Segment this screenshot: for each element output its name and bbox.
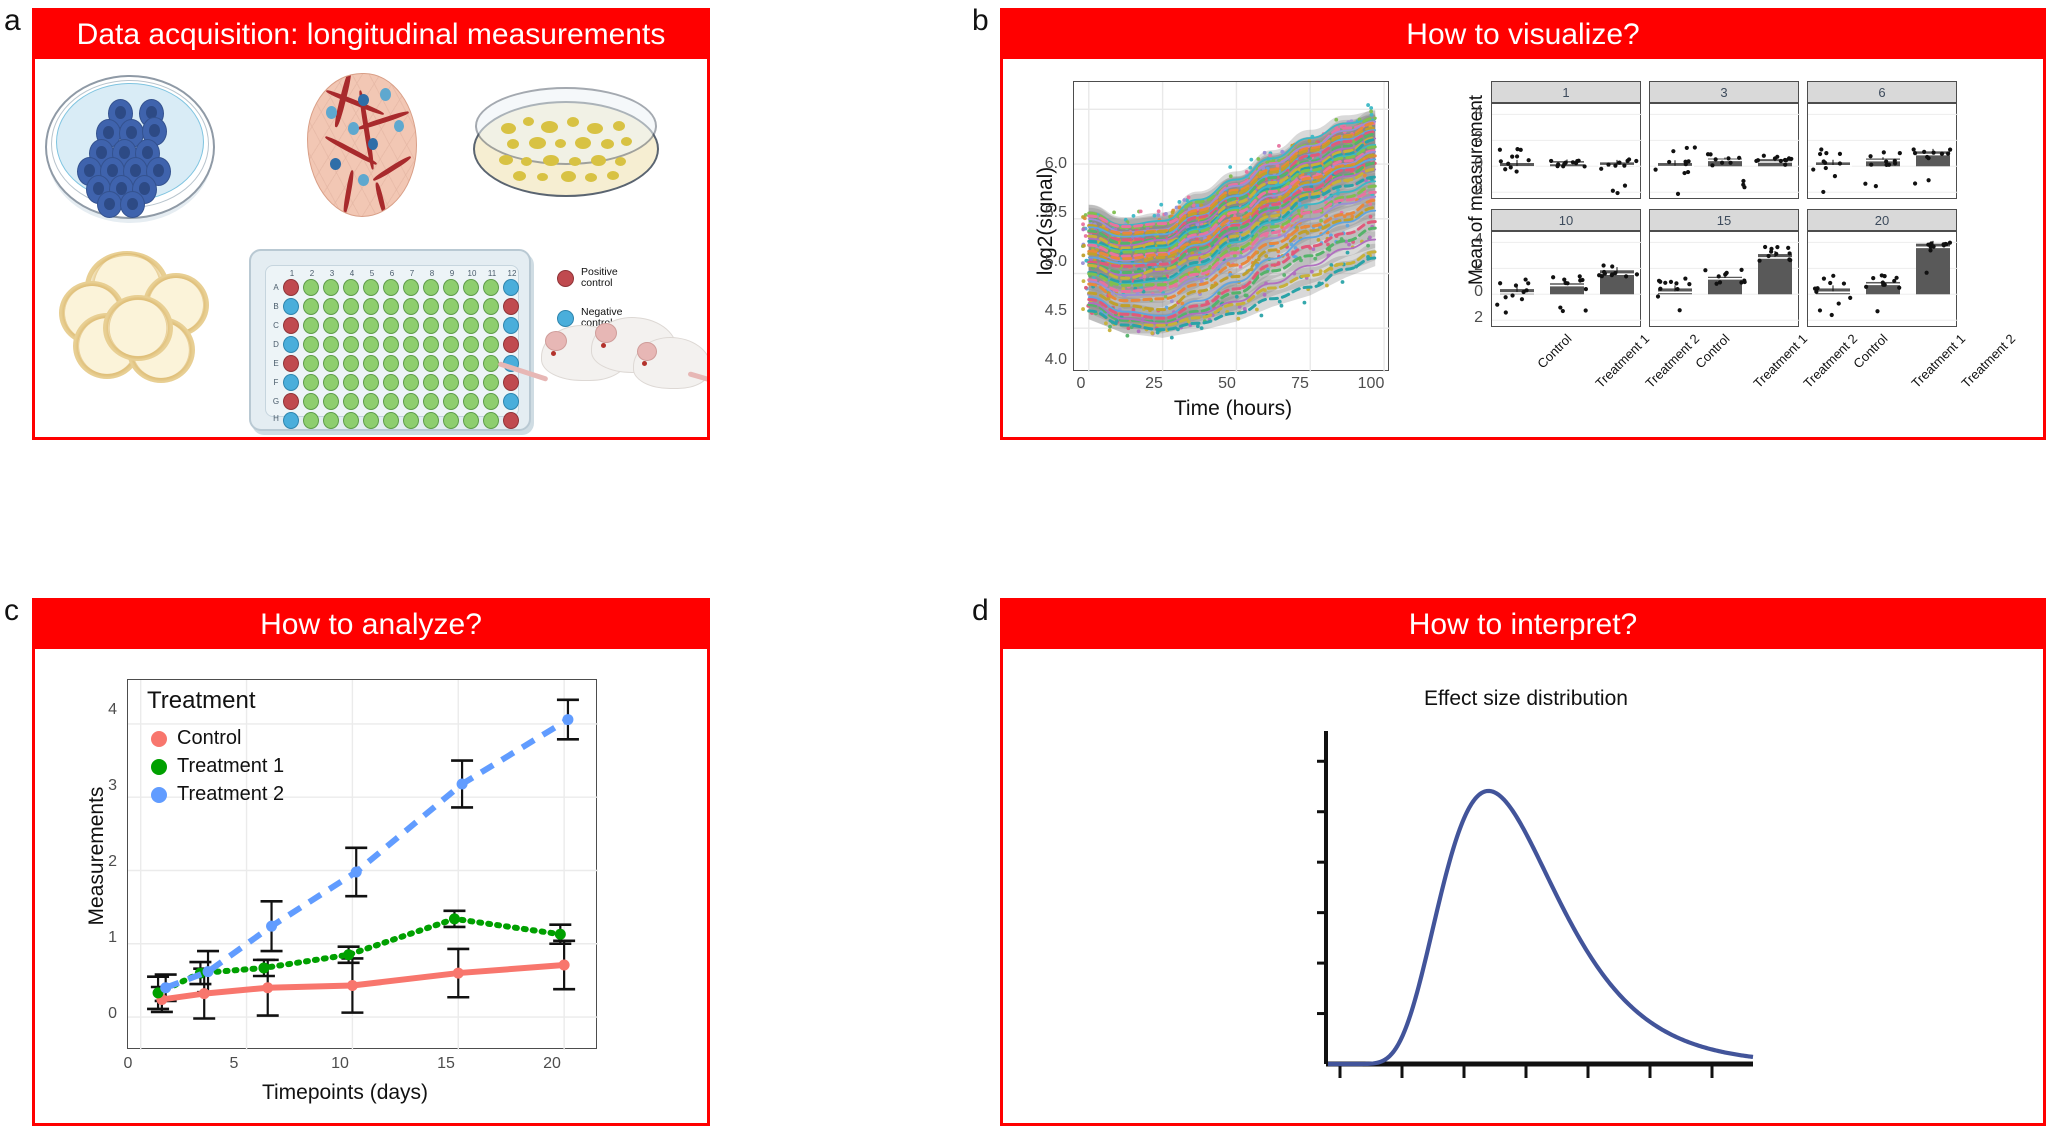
well-H5[interactable] — [363, 412, 379, 429]
spaghetti-xtick: 0 — [1063, 375, 1099, 393]
well-G12[interactable] — [503, 393, 519, 410]
well-C6[interactable] — [383, 317, 399, 334]
panel-d-title: How to interpret? — [1409, 608, 1637, 642]
facet-strip-10: 10 — [1491, 209, 1641, 231]
plate-col-label: 3 — [325, 269, 339, 278]
panel-c-body: Measurements Timepoints (days) 4 3 2 1 0… — [35, 649, 707, 1123]
plate-col-label: 4 — [345, 269, 359, 278]
well-D11[interactable] — [483, 336, 499, 353]
well-A8[interactable] — [423, 279, 439, 296]
panel-b-title: How to visualize? — [1406, 18, 1639, 52]
well-A9[interactable] — [443, 279, 459, 296]
well-G1[interactable] — [283, 393, 299, 410]
well-D1[interactable] — [283, 336, 299, 353]
well-D7[interactable] — [403, 336, 419, 353]
plate-col-label: 11 — [485, 269, 499, 278]
well-A10[interactable] — [463, 279, 479, 296]
well-F5[interactable] — [363, 374, 379, 391]
facet-ytick: 2 — [1457, 309, 1483, 327]
facet-panel-10 — [1491, 231, 1641, 327]
well-G3[interactable] — [323, 393, 339, 410]
linechart-ytick: 0 — [87, 1005, 117, 1023]
well-D3[interactable] — [323, 336, 339, 353]
plate-row-label: H — [271, 414, 281, 423]
well-H4[interactable] — [343, 412, 359, 429]
well-G10[interactable] — [463, 393, 479, 410]
well-C2[interactable] — [303, 317, 319, 334]
plate-col-label: 6 — [385, 269, 399, 278]
facet-ytick: 2 — [1457, 129, 1483, 147]
well-D10[interactable] — [463, 336, 479, 353]
spaghetti-xtick: 50 — [1209, 375, 1245, 393]
legend-item-control[interactable]: Control — [151, 727, 241, 750]
well-A5[interactable] — [363, 279, 379, 296]
panel-letter-c: c — [4, 596, 19, 626]
well-D9[interactable] — [443, 336, 459, 353]
well-E6[interactable] — [383, 355, 399, 372]
well-A12[interactable] — [503, 279, 519, 296]
facet-panel-3 — [1649, 103, 1799, 199]
panel-d: How to interpret? Effect size distributi… — [1000, 598, 2046, 1126]
spaghetti-x-axis-title: Time (hours) — [1103, 397, 1363, 421]
panel-a-body: 1 2 3 4 5 6 7 8 9 10 11 12 A B C D E F G — [35, 59, 707, 437]
linechart-xtick: 0 — [113, 1055, 143, 1073]
legend-key-control — [151, 731, 167, 747]
well-D12[interactable] — [503, 336, 519, 353]
well-B3[interactable] — [323, 298, 339, 315]
well-E11[interactable] — [483, 355, 499, 372]
linechart-legend-title: Treatment — [147, 687, 255, 715]
spaghetti-ytick: 6.0 — [1031, 155, 1067, 173]
well-C4[interactable] — [343, 317, 359, 334]
well-C7[interactable] — [403, 317, 419, 334]
well-B8[interactable] — [423, 298, 439, 315]
well-E9[interactable] — [443, 355, 459, 372]
well-G6[interactable] — [383, 393, 399, 410]
panel-c-header: How to analyze? — [35, 601, 707, 649]
well-F8[interactable] — [423, 374, 439, 391]
plate-row-label: B — [271, 302, 281, 311]
well-A7[interactable] — [403, 279, 419, 296]
facet-panel-1 — [1491, 103, 1641, 199]
linechart-xtick: 5 — [219, 1055, 249, 1073]
plate-col-label: 2 — [305, 269, 319, 278]
panel-c-title: How to analyze? — [260, 608, 482, 642]
facet-ytick: 4 — [1457, 103, 1483, 121]
well-H6[interactable] — [383, 412, 399, 429]
well-F12[interactable] — [503, 374, 519, 391]
well-F3[interactable] — [323, 374, 339, 391]
linechart-ytick: 4 — [87, 701, 117, 719]
spaghetti-ytick: 5.5 — [1031, 204, 1067, 222]
plate-col-label: 12 — [505, 269, 519, 278]
well-B1[interactable] — [283, 298, 299, 315]
linechart-ytick: 3 — [87, 777, 117, 795]
well-A3[interactable] — [323, 279, 339, 296]
panel-b-header: How to visualize? — [1003, 11, 2043, 59]
plate-col-label: 9 — [445, 269, 459, 278]
well-H8[interactable] — [423, 412, 439, 429]
plate-row-label: C — [271, 321, 281, 330]
effect-size-distribution: Effect size distribution — [1003, 649, 2043, 1123]
well-D5[interactable] — [363, 336, 379, 353]
well-B11[interactable] — [483, 298, 499, 315]
panel-a-header: Data acquisition: longitudinal measureme… — [35, 11, 707, 59]
legend-key-treatment-2 — [151, 787, 167, 803]
spaghetti-plot: log2(signal) Time (hours) 6.0 5.5 5.0 4.… — [1003, 59, 1423, 437]
plate-row-label: D — [271, 340, 281, 349]
legend-label-positive: Positivecontrol — [581, 267, 618, 289]
microplate-96-well[interactable]: 1 2 3 4 5 6 7 8 9 10 11 12 A B C D E F G — [249, 249, 531, 431]
well-E4[interactable] — [343, 355, 359, 372]
well-H3[interactable] — [323, 412, 339, 429]
well-G2[interactable] — [303, 393, 319, 410]
well-D4[interactable] — [343, 336, 359, 353]
well-H11[interactable] — [483, 412, 499, 429]
panel-d-body: Effect size distribution — [1003, 649, 2043, 1123]
organoid-cluster — [59, 251, 209, 379]
spaghetti-ytick: 4.0 — [1031, 351, 1067, 369]
facet-strip-6: 6 — [1807, 81, 1957, 103]
well-F1[interactable] — [283, 374, 299, 391]
mixed-model-lineplot: Measurements Timepoints (days) 4 3 2 1 0… — [35, 649, 707, 1123]
well-B12[interactable] — [503, 298, 519, 315]
linechart-ytick: 1 — [87, 929, 117, 947]
linechart-xtick: 15 — [431, 1055, 461, 1073]
legend-label-control: Control — [177, 727, 241, 750]
facet-strip-15: 15 — [1649, 209, 1799, 231]
facet-strip-20: 20 — [1807, 209, 1957, 231]
well-A4[interactable] — [343, 279, 359, 296]
linechart-ytick: 2 — [87, 853, 117, 871]
spaghetti-xtick: 100 — [1353, 375, 1389, 393]
well-F10[interactable] — [463, 374, 479, 391]
facet-panel-15 — [1649, 231, 1799, 327]
well-C12[interactable] — [503, 317, 519, 334]
panel-a: Data acquisition: longitudinal measureme… — [32, 8, 710, 440]
plate-col-label: 7 — [405, 269, 419, 278]
figure-root: a Data acquisition: longitudinal measure… — [0, 0, 2056, 1133]
well-F9[interactable] — [443, 374, 459, 391]
plate-row-label: E — [271, 359, 281, 368]
well-A2[interactable] — [303, 279, 319, 296]
spaghetti-xtick: 25 — [1136, 375, 1172, 393]
facet-ytick: 2 — [1457, 257, 1483, 275]
petri-dish-colonies — [473, 87, 659, 203]
well-H9[interactable] — [443, 412, 459, 429]
well-C1[interactable] — [283, 317, 299, 334]
legend-label-treatment-1: Treatment 1 — [177, 755, 284, 778]
facet-bar-plot: Mean of measurement 4202420213610Control… — [1435, 59, 2043, 437]
panel-b: How to visualize? log2(signal) Time (hou… — [1000, 8, 2046, 440]
well-G8[interactable] — [423, 393, 439, 410]
well-F11[interactable] — [483, 374, 499, 391]
panel-b-body: log2(signal) Time (hours) 6.0 5.5 5.0 4.… — [1003, 59, 2043, 437]
well-C3[interactable] — [323, 317, 339, 334]
plate-col-label: 5 — [365, 269, 379, 278]
laboratory-mice — [541, 307, 707, 411]
well-E8[interactable] — [423, 355, 439, 372]
well-C5[interactable] — [363, 317, 379, 334]
plate-row-label: A — [271, 283, 281, 292]
well-H1[interactable] — [283, 412, 299, 429]
well-F2[interactable] — [303, 374, 319, 391]
well-G9[interactable] — [443, 393, 459, 410]
well-A11[interactable] — [483, 279, 499, 296]
well-B4[interactable] — [343, 298, 359, 315]
linechart-x-axis-title: Timepoints (days) — [175, 1081, 515, 1105]
facet-ytick: 0 — [1457, 155, 1483, 173]
well-C8[interactable] — [423, 317, 439, 334]
well-C11[interactable] — [483, 317, 499, 334]
well-B6[interactable] — [383, 298, 399, 315]
well-G4[interactable] — [343, 393, 359, 410]
panel-letter-d: d — [972, 596, 989, 626]
well-C9[interactable] — [443, 317, 459, 334]
well-H2[interactable] — [303, 412, 319, 429]
legend-key-treatment-1 — [151, 759, 167, 775]
well-G7[interactable] — [403, 393, 419, 410]
well-E5[interactable] — [363, 355, 379, 372]
well-D6[interactable] — [383, 336, 399, 353]
legend-label-treatment-2: Treatment 2 — [177, 783, 284, 806]
panel-c: How to analyze? Measurements Timepoints … — [32, 598, 710, 1126]
linechart-xtick: 10 — [325, 1055, 355, 1073]
well-H12[interactable] — [503, 412, 519, 429]
facet-ytick: 2 — [1457, 181, 1483, 199]
well-B9[interactable] — [443, 298, 459, 315]
legend-item-treatment-2[interactable]: Treatment 2 — [151, 783, 284, 806]
panel-d-header: How to interpret? — [1003, 601, 2043, 649]
plate-col-label: 8 — [425, 269, 439, 278]
panel-letter-a: a — [4, 6, 21, 36]
well-G11[interactable] — [483, 393, 499, 410]
facet-panel-6 — [1807, 103, 1957, 199]
plate-row-label: F — [271, 378, 281, 387]
well-F7[interactable] — [403, 374, 419, 391]
spaghetti-ytick: 5.0 — [1031, 253, 1067, 271]
facet-panel-20 — [1807, 231, 1957, 327]
spaghetti-ytick: 4.5 — [1031, 302, 1067, 320]
well-F4[interactable] — [343, 374, 359, 391]
well-B10[interactable] — [463, 298, 479, 315]
well-E2[interactable] — [303, 355, 319, 372]
plate-col-label: 10 — [465, 269, 479, 278]
well-E1[interactable] — [283, 355, 299, 372]
well-D8[interactable] — [423, 336, 439, 353]
organoid-spheroid — [307, 73, 417, 217]
legend-item-treatment-1[interactable]: Treatment 1 — [151, 755, 284, 778]
well-B2[interactable] — [303, 298, 319, 315]
well-B5[interactable] — [363, 298, 379, 315]
linechart-xtick: 20 — [537, 1055, 567, 1073]
facet-strip-3: 3 — [1649, 81, 1799, 103]
cell-culture-dish — [45, 75, 215, 219]
well-E7[interactable] — [403, 355, 419, 372]
facet-ytick: 0 — [1457, 283, 1483, 301]
well-D2[interactable] — [303, 336, 319, 353]
well-A1[interactable] — [283, 279, 299, 296]
facet-ytick: 4 — [1457, 231, 1483, 249]
well-E3[interactable] — [323, 355, 339, 372]
facet-xtick-control: Control — [1534, 331, 1574, 371]
spaghetti-xtick: 75 — [1282, 375, 1318, 393]
well-F6[interactable] — [383, 374, 399, 391]
well-G5[interactable] — [363, 393, 379, 410]
well-C10[interactable] — [463, 317, 479, 334]
spaghetti-plot-area — [1073, 81, 1389, 371]
well-E10[interactable] — [463, 355, 479, 372]
plate-row-label: G — [271, 397, 281, 406]
well-H7[interactable] — [403, 412, 419, 429]
well-B7[interactable] — [403, 298, 419, 315]
well-H10[interactable] — [463, 412, 479, 429]
distribution-curve — [1328, 791, 1753, 1064]
panel-a-title: Data acquisition: longitudinal measureme… — [77, 18, 666, 52]
positive-control-dot — [557, 270, 574, 287]
facet-strip-1: 1 — [1491, 81, 1641, 103]
well-A6[interactable] — [383, 279, 399, 296]
panel-letter-b: b — [972, 6, 989, 36]
plate-col-label: 1 — [285, 269, 299, 278]
